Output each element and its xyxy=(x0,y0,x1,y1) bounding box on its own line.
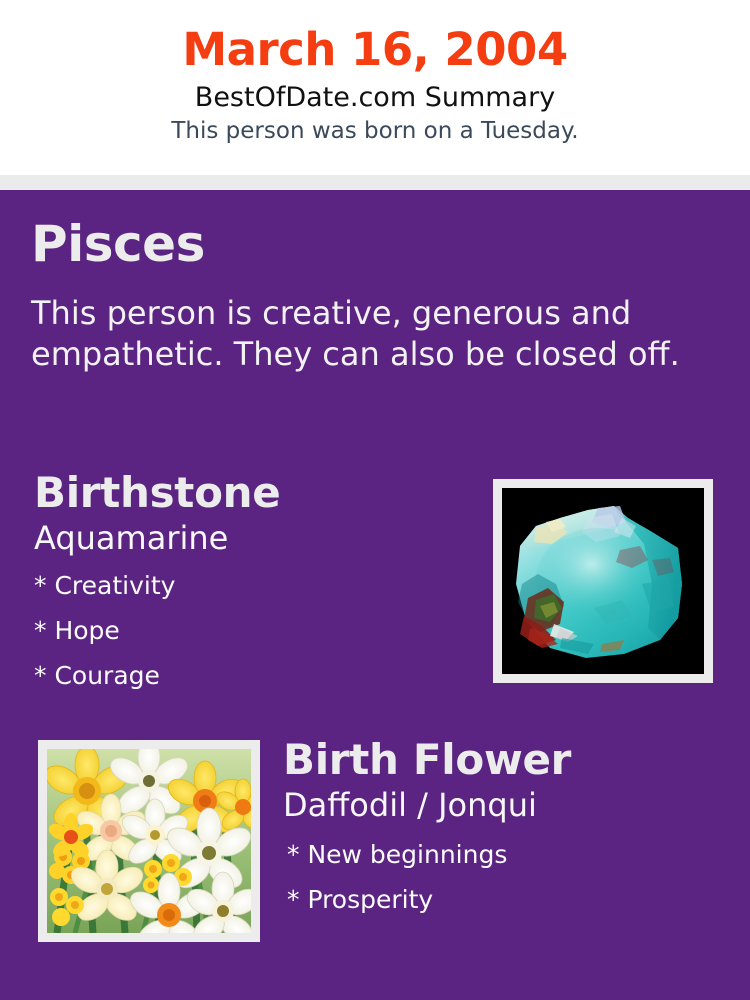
header-divider xyxy=(0,175,750,190)
birthstone-section: Birthstone Aquamarine * Creativity * Hop… xyxy=(34,468,474,698)
birthstone-image-frame xyxy=(493,479,713,683)
birthstone-heading: Birthstone xyxy=(34,468,474,518)
birth-flower-image xyxy=(47,749,251,933)
page-title: March 16, 2004 xyxy=(0,0,750,76)
birthstone-trait-list: * Creativity * Hope * Courage xyxy=(34,557,474,698)
page-header: March 16, 2004 BestOfDate.com Summary Th… xyxy=(0,0,750,175)
summary-card: March 16, 2004 BestOfDate.com Summary Th… xyxy=(0,0,750,1000)
list-item: * Creativity xyxy=(34,563,474,608)
list-item: * Hope xyxy=(34,608,474,653)
daffodil-flowers-icon xyxy=(47,749,251,933)
zodiac-description: This person is creative, generous and em… xyxy=(31,293,721,375)
birth-flower-trait-list: * New beginnings * Prosperity xyxy=(283,824,733,922)
list-item: * Prosperity xyxy=(287,877,733,922)
birthstone-image xyxy=(502,488,704,674)
birthstone-name: Aquamarine xyxy=(34,518,474,557)
birth-flower-image-frame xyxy=(38,740,260,942)
list-item: * Courage xyxy=(34,653,474,698)
zodiac-sign-name: Pisces xyxy=(31,215,205,273)
birth-flower-section: Birth Flower Daffodil / Jonqui * New beg… xyxy=(283,735,733,922)
list-item: * New beginnings xyxy=(287,832,733,877)
birth-flower-name: Daffodil / Jonqui xyxy=(283,785,733,824)
aquamarine-crystal-icon xyxy=(502,488,704,674)
birth-flower-heading: Birth Flower xyxy=(283,735,733,785)
site-summary-label: BestOfDate.com Summary xyxy=(0,76,750,114)
born-day-text: This person was born on a Tuesday. xyxy=(0,114,750,146)
